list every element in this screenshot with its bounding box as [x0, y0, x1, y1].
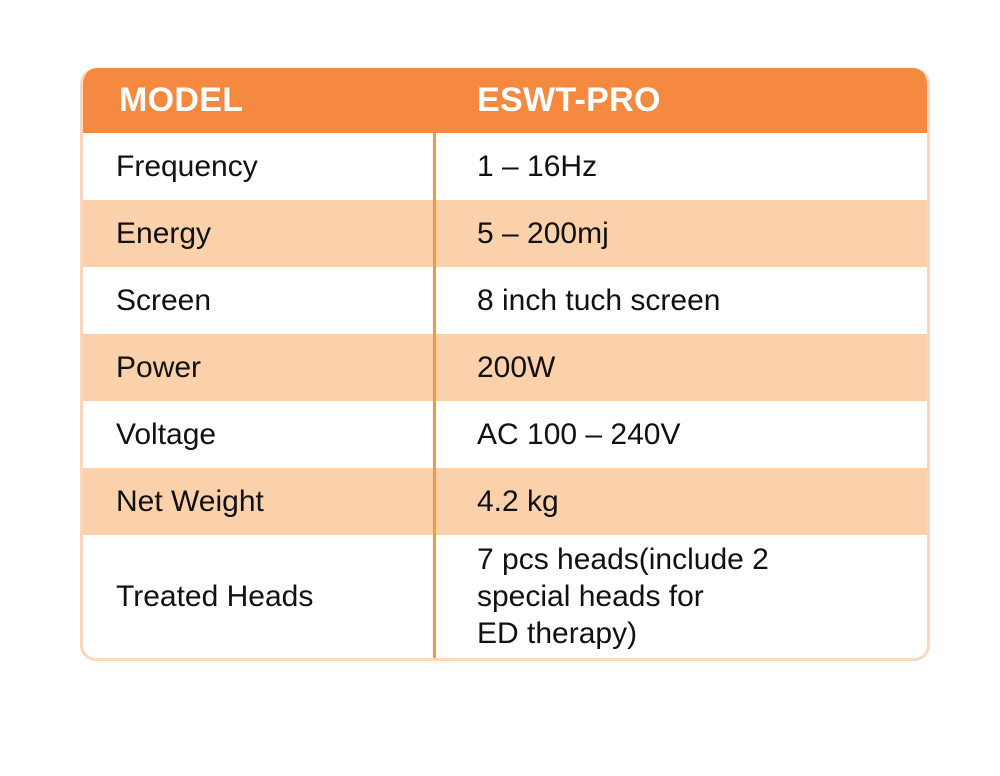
- column-divider: [433, 468, 436, 535]
- page-root: MODEL ESWT-PRO Frequency 1 – 16Hz Energy…: [0, 0, 1000, 776]
- row-value-treated-heads: 7 pcs heads(include 2 special heads for …: [433, 535, 927, 658]
- row-label-voltage: Voltage: [83, 401, 433, 468]
- table-row: Treated Heads 7 pcs heads(include 2 spec…: [83, 535, 927, 658]
- column-divider: [433, 334, 436, 401]
- row-value-energy: 5 – 200mj: [433, 200, 927, 267]
- table-row: Power 200W: [83, 334, 927, 401]
- table-row: Screen 8 inch tuch screen: [83, 267, 927, 334]
- header-cell-product: ESWT-PRO: [433, 68, 927, 133]
- column-divider: [433, 200, 436, 267]
- header-cell-model: MODEL: [83, 68, 433, 133]
- row-value-screen: 8 inch tuch screen: [433, 267, 927, 334]
- table-row: Frequency 1 – 16Hz: [83, 133, 927, 200]
- table-row: Energy 5 – 200mj: [83, 200, 927, 267]
- row-value-voltage: AC 100 – 240V: [433, 401, 927, 468]
- row-value-frequency: 1 – 16Hz: [433, 133, 927, 200]
- table-header-row: MODEL ESWT-PRO: [83, 68, 927, 133]
- specification-table: MODEL ESWT-PRO Frequency 1 – 16Hz Energy…: [80, 68, 930, 661]
- column-divider: [433, 535, 436, 658]
- row-label-energy: Energy: [83, 200, 433, 267]
- row-value-power: 200W: [433, 334, 927, 401]
- row-label-frequency: Frequency: [83, 133, 433, 200]
- row-label-power: Power: [83, 334, 433, 401]
- row-label-treated-heads: Treated Heads: [83, 535, 433, 658]
- column-divider: [433, 133, 436, 200]
- column-divider: [433, 267, 436, 334]
- table-row: Net Weight 4.2 kg: [83, 468, 927, 535]
- table-row: Voltage AC 100 – 240V: [83, 401, 927, 468]
- row-label-screen: Screen: [83, 267, 433, 334]
- row-label-net-weight: Net Weight: [83, 468, 433, 535]
- column-divider: [433, 401, 436, 468]
- row-value-net-weight: 4.2 kg: [433, 468, 927, 535]
